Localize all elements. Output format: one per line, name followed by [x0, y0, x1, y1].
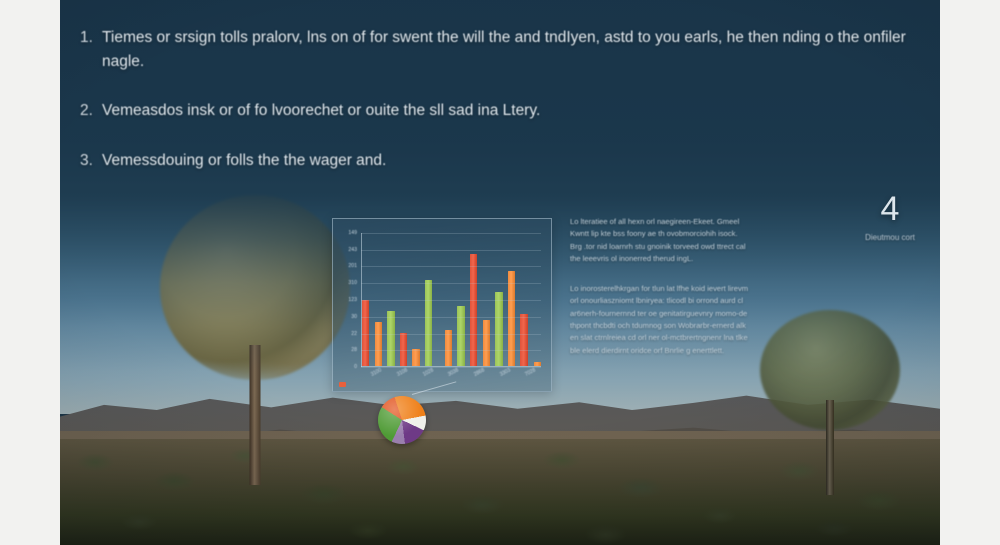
chart-y-tick-label: 0: [354, 364, 357, 370]
chart-y-tick-label: 22: [351, 331, 357, 337]
stat-number: 4: [835, 192, 940, 226]
chart-gridline: [361, 317, 541, 318]
chart-bar: [387, 311, 395, 366]
body-paragraph: Lo inorosterelhkrgan for tlun lat lfhe k…: [570, 283, 750, 357]
list-item-number: 2.: [80, 99, 102, 123]
stat-block: 4 Dieutmou cort: [835, 192, 940, 242]
list-item: 3. Vemessdouing or folls the the wager a…: [80, 149, 930, 173]
chart-y-tick-label: 149: [348, 230, 357, 236]
chart-y-tick-label: 28: [351, 347, 357, 353]
chart-y-tick-label: 123: [348, 297, 357, 303]
chart-bar: [508, 271, 516, 367]
bar-chart-plot-area: 1492432013101233022280310031081028303828…: [361, 233, 541, 367]
chart-y-tick-label: 201: [348, 263, 357, 269]
body-text-column: Lo lteratiee of all hexn orl naegireen-E…: [570, 216, 750, 375]
chart-gridline: [361, 250, 541, 251]
list-item-number: 3.: [80, 149, 102, 173]
bar-chart-panel: 1492432013101233022280310031081028303828…: [332, 218, 552, 392]
chart-legend-swatch: [339, 382, 346, 387]
chart-x-tick-label: 3038: [447, 367, 460, 378]
chart-bar: [457, 306, 465, 366]
chart-bar: [375, 322, 383, 366]
chart-x-tick-label: 3100: [370, 367, 383, 378]
chart-bar: [520, 314, 528, 366]
chart-bar: [483, 320, 491, 366]
list-item-text: Vemeasdos insk or of fo lvoorechet or ou…: [102, 99, 540, 123]
stat-label: Dieutmou cort: [835, 233, 940, 242]
pie-chart: [378, 396, 426, 444]
list-item-text: Tiemes or srsign tolls pralorv, lns on o…: [102, 26, 922, 73]
chart-y-tick-label: 30: [351, 314, 357, 320]
list-item: 2. Vemeasdos insk or of fo lvoorechet or…: [80, 99, 930, 123]
slide-canvas: 1. Tiemes or srsign tolls pralorv, lns o…: [60, 0, 940, 545]
chart-x-tick-label: 1028: [422, 367, 435, 378]
chart-gridline: [361, 283, 541, 284]
chart-bar: [534, 362, 542, 366]
chart-x-tick-label: 2868: [473, 367, 486, 378]
chart-bar: [412, 349, 420, 366]
chart-bar: [445, 330, 453, 366]
chart-y-tick-label: 243: [348, 247, 357, 253]
chart-gridline: [361, 367, 541, 368]
numbered-list: 1. Tiemes or srsign tolls pralorv, lns o…: [80, 26, 930, 198]
chart-y-tick-label: 310: [348, 280, 357, 286]
chart-gridline: [361, 233, 541, 234]
chart-gridline: [361, 334, 541, 335]
body-paragraph: Lo lteratiee of all hexn orl naegireen-E…: [570, 216, 750, 265]
list-item-number: 1.: [80, 26, 102, 50]
chart-gridline: [361, 300, 541, 301]
chart-gridline: [361, 266, 541, 267]
list-item-text: Vemessdouing or folls the the wager and.: [102, 149, 386, 173]
chart-bar: [425, 280, 433, 366]
chart-x-tick-label: 3108: [396, 367, 409, 378]
chart-x-tick-label: 7028: [525, 367, 538, 378]
presentation-slide: 1. Tiemes or srsign tolls pralorv, lns o…: [0, 0, 1000, 545]
chart-bar: [495, 292, 503, 366]
chart-x-tick-label: 3303: [499, 367, 512, 378]
list-item: 1. Tiemes or srsign tolls pralorv, lns o…: [80, 26, 930, 73]
chart-gridline: [361, 350, 541, 351]
